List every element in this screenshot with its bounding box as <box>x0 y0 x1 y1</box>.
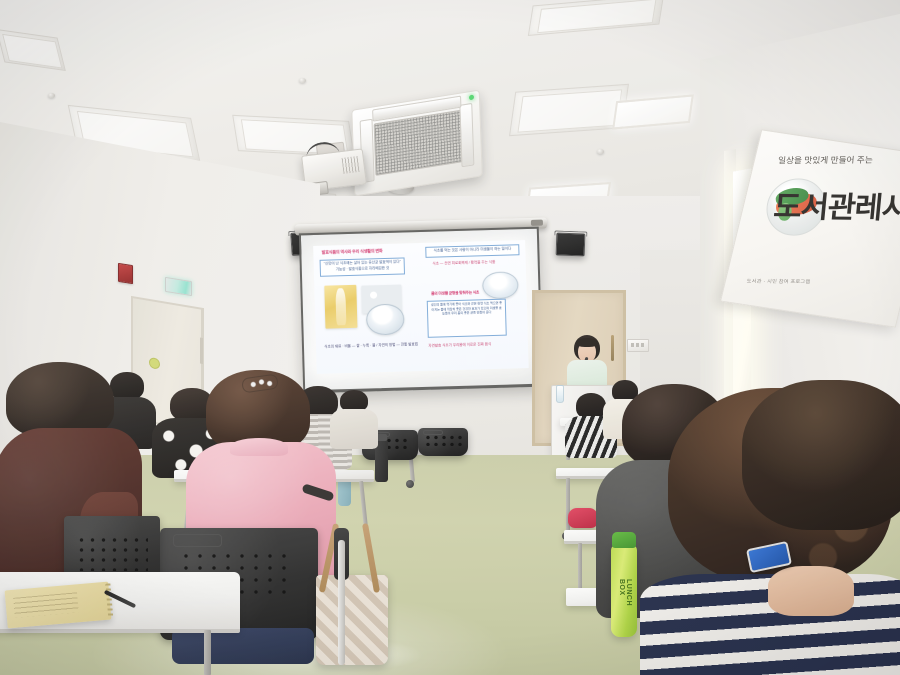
smoke-detector <box>48 93 55 98</box>
banner-title: 도서관레시피 <box>772 182 900 227</box>
neck-skin <box>768 566 854 616</box>
desk-caster <box>406 480 414 488</box>
wall-speaker-right <box>556 233 586 257</box>
bottle-cap <box>612 532 636 548</box>
slide-heading-mid-right: 몸의 미생물 균형을 맞춰주는 식초 <box>431 290 479 296</box>
green-water-bottle[interactable]: LUNCH BOX <box>611 545 637 637</box>
slide-box-right-body: 성인의 몸에 먹기에 좋아 식초와 같은 천연 식초 먹으면 좋아지는 몸에 적… <box>427 298 507 337</box>
presentation-slide: 발효식품의 역사와 우리 식생활의 변화 "신맛이 난 식초에는 살아 있는 유… <box>313 240 529 375</box>
slide-subcaption-right: 식초 — 천연 피로회복제 / 활력을 주는 식품 <box>432 260 495 266</box>
bottle-label: LUNCH BOX <box>616 579 632 621</box>
light-switch-plate[interactable] <box>627 339 649 352</box>
checkered-tote-bag[interactable] <box>316 575 388 665</box>
projection-screen: 발효식품의 역사와 우리 식생활의 변화 "신맛이 난 식초에는 살아 있는 유… <box>301 230 541 390</box>
chair-back[interactable] <box>418 428 468 456</box>
fire-alarm-box[interactable] <box>118 263 133 284</box>
screen-surface: 발효식품의 역사와 우리 식생활의 변화 "신맛이 난 식초에는 살아 있는 유… <box>299 227 543 394</box>
slide-caption-left: 식초의 재료 · 비율 — 쌀 · 누룩 · 물 / 자연의 방법 — 전통 발… <box>324 342 418 349</box>
classroom-photo: 발효식품의 역사와 우리 식생활의 변화 "신맛이 난 식초에는 살아 있는 유… <box>0 0 900 675</box>
slide-heading-left: 발효식품의 역사와 우리 식생활의 변화 <box>322 248 383 255</box>
slide-image-bowl <box>366 304 405 335</box>
water-bottle <box>556 385 564 403</box>
walking-crutch <box>338 540 345 665</box>
slide-box-right-top: 식초를 먹는 것은 사람이 아니라 미생물이 하는 일이다 <box>426 244 520 258</box>
banner-footer: 도서관 · 시민 참여 프로그램 <box>746 278 810 286</box>
slide-image-vinegar-bottle <box>325 285 358 330</box>
ceiling-vent <box>509 84 629 136</box>
slide-caption-right: 자연발효 식초가 우리몸에 이로운 진짜 음식 <box>428 343 491 349</box>
red-pouch[interactable] <box>568 508 598 528</box>
slide-image-bowl-closeup <box>482 271 519 300</box>
door-sticker <box>149 357 160 370</box>
smoke-detector <box>299 78 306 83</box>
slide-box-left: "신맛이 난 식초에는 살아 있는 유산균 발효액이 있다" 기능성 · 발효식… <box>320 257 405 276</box>
smoke-detector <box>597 149 604 154</box>
attendee-far-right <box>742 380 900 570</box>
chair-seat[interactable] <box>172 628 314 664</box>
desk-leg <box>204 630 211 675</box>
polo-collar <box>230 438 288 456</box>
attendee-far-back <box>330 390 378 444</box>
door-handle <box>611 335 614 361</box>
banner-subtitle: 일상을 맛있게 만들어 주는 <box>778 154 874 166</box>
